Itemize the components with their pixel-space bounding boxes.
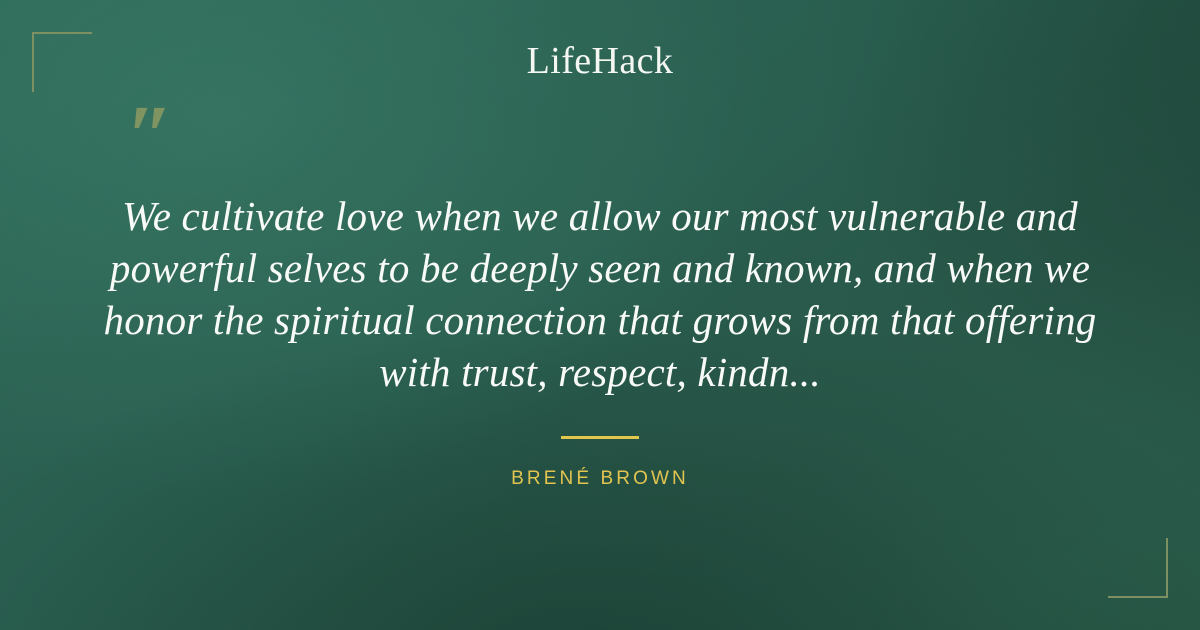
attribution-block: BRENÉ BROWN: [0, 436, 1200, 491]
quote-card: LifeHack ″ We cultivate love when we all…: [0, 0, 1200, 630]
quote-block: We cultivate love when we allow our most…: [78, 190, 1122, 398]
quote-line: powerful selves to be deeply seen and kn…: [78, 242, 1122, 294]
quote-line: We cultivate love when we allow our most…: [78, 190, 1122, 242]
quote-text: We cultivate love when we allow our most…: [78, 190, 1122, 398]
brand-logo: LifeHack: [0, 38, 1200, 84]
quote-line: with trust, respect, kindn...: [78, 346, 1122, 398]
corner-bracket-bottom-right-icon: [1108, 538, 1168, 598]
quote-line: honor the spiritual connection that grow…: [78, 294, 1122, 346]
author-name: BRENÉ BROWN: [0, 467, 1200, 491]
attribution-divider: [561, 436, 639, 439]
quotation-mark-icon: ″: [126, 92, 174, 178]
